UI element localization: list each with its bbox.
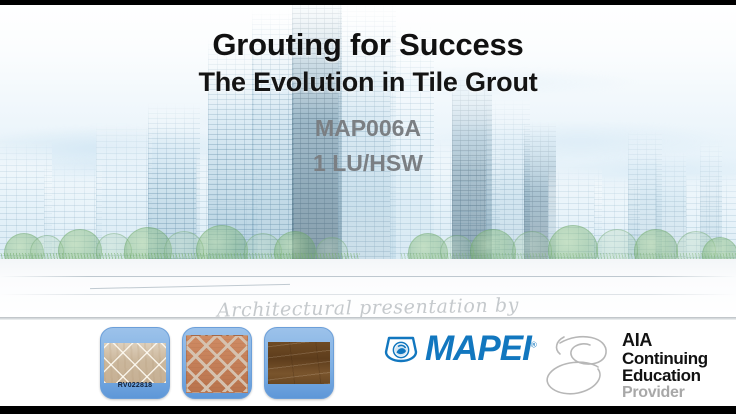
aia-line-2: Continuing xyxy=(622,350,708,368)
aia-continuing-education-provider-logo: AIA Continuing Education Provider xyxy=(622,331,708,401)
aia-line-1: AIA xyxy=(622,331,708,350)
terracotta-tile-image xyxy=(186,335,248,393)
registered-mark-icon: ® xyxy=(531,340,536,349)
mapei-wordmark: MAPEI® xyxy=(425,331,536,366)
letterbox-bar-top xyxy=(0,0,736,5)
course-code: MAP006A xyxy=(0,115,736,142)
presentation-slide: Grouting for Success The Evolution in Ti… xyxy=(0,0,736,414)
tile-thumbnail[interactable] xyxy=(182,327,252,399)
travertine-tile-image xyxy=(104,343,166,383)
tile-thumbnail[interactable]: RV022818 xyxy=(100,327,170,399)
ground-line xyxy=(0,276,736,277)
slide-title-line1: Grouting for Success xyxy=(0,27,736,63)
slide-canvas: Grouting for Success The Evolution in Ti… xyxy=(0,5,736,406)
slide-title-line2: The Evolution in Tile Grout xyxy=(0,67,736,98)
aia-line-4: Provider xyxy=(622,385,708,401)
mapei-logo: MAPEI® xyxy=(383,331,536,366)
credit-units: 1 LU/HSW xyxy=(0,150,736,177)
wood-plank-tile-image xyxy=(268,342,330,384)
tile-thumbnail-strip: RV022818 xyxy=(100,327,334,399)
mapei-emblem-icon xyxy=(383,333,419,364)
swirl-decoration-icon xyxy=(534,327,630,406)
tile-code-label: RV022818 xyxy=(104,382,166,389)
aia-line-3: Education xyxy=(622,367,708,385)
tile-thumbnail[interactable] xyxy=(264,327,334,399)
letterbox-bar-bottom xyxy=(0,406,736,414)
